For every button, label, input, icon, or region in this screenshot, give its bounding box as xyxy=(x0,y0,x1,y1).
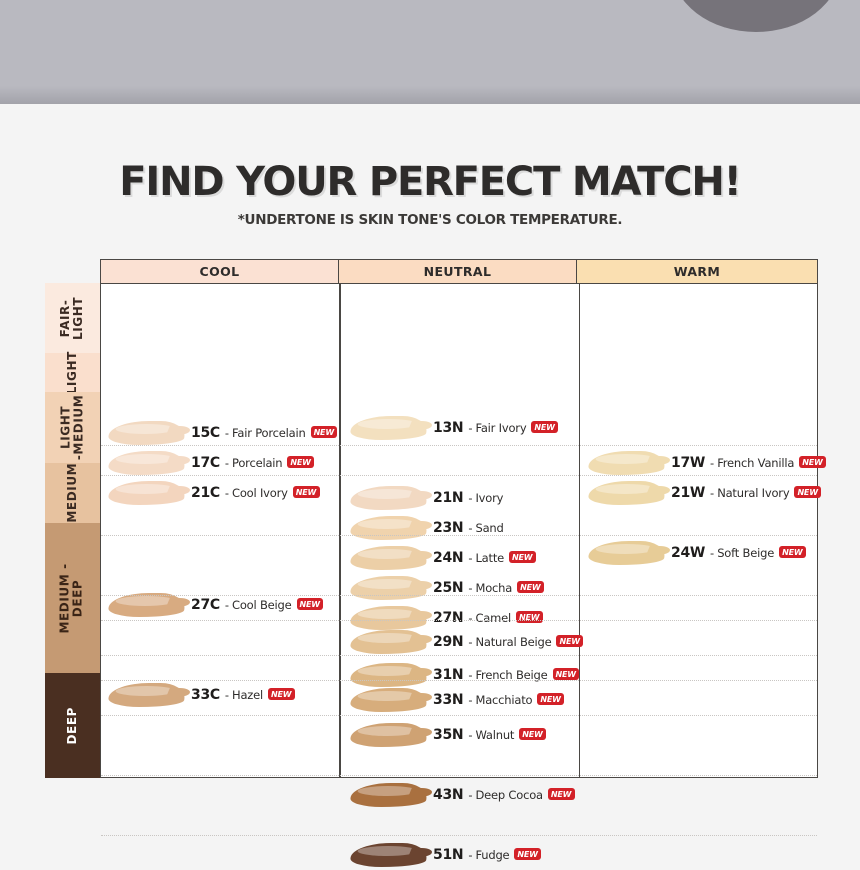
shade-finder-page: FIND YOUR PERFECT MATCH! *UNDERTONE IS S… xyxy=(0,104,860,812)
shade-separator: - xyxy=(225,426,229,440)
shade-separator: - xyxy=(468,788,472,802)
shade-entry[interactable]: 21W-Natural IvoryNEW xyxy=(589,478,821,508)
tone-band-label: MEDIUM xyxy=(66,463,79,523)
tone-band-label: LIGHT-MEDIUM xyxy=(59,395,86,460)
shade-name: Cool Beige xyxy=(232,598,292,612)
shade-name: Mocha xyxy=(475,581,512,595)
new-badge: NEW xyxy=(779,546,806,558)
shade-name: Deep Cocoa xyxy=(475,788,542,802)
shade-swatch-icon xyxy=(351,543,427,573)
shade-swatch-icon xyxy=(351,513,427,543)
shade-entry[interactable]: 17W-French VanillaNEW xyxy=(589,448,826,478)
shade-entry[interactable]: 29N-Natural BeigeNEW xyxy=(351,627,583,657)
shade-swatch-icon xyxy=(351,685,427,715)
tone-band-light: LIGHT xyxy=(45,353,100,392)
new-badge: NEW xyxy=(556,635,583,647)
shade-code: 27N xyxy=(433,610,463,626)
shade-entry[interactable]: 15C-Fair PorcelainNEW xyxy=(109,418,337,448)
row-divider xyxy=(101,535,817,536)
shade-entry[interactable]: 13N-Fair IvoryNEW xyxy=(351,413,558,443)
shade-name: Ivory xyxy=(475,491,503,505)
shade-separator: - xyxy=(468,635,472,649)
shade-entry[interactable]: 23N-Sand xyxy=(351,513,504,543)
product-cushion-shadow-shape xyxy=(672,0,840,32)
shade-swatch-icon xyxy=(351,720,427,750)
new-badge: NEW xyxy=(531,421,558,433)
row-divider xyxy=(101,835,817,836)
shade-code: 17W xyxy=(671,455,705,471)
new-badge: NEW xyxy=(268,688,295,700)
shade-separator: - xyxy=(468,421,472,435)
shade-code: 21N xyxy=(433,490,463,506)
shade-separator: - xyxy=(468,551,472,565)
tone-band-medium-deep: MEDIUM -DEEP xyxy=(45,523,100,673)
shade-code: 25N xyxy=(433,580,463,596)
new-badge: NEW xyxy=(514,848,541,860)
shade-code: 51N xyxy=(433,847,463,863)
shade-entry[interactable]: 17C-PorcelainNEW xyxy=(109,448,314,478)
shade-name: Sand xyxy=(475,521,503,535)
shade-name: Fair Porcelain xyxy=(232,426,306,440)
shade-swatch-icon xyxy=(351,483,427,513)
shade-separator: - xyxy=(468,693,472,707)
shade-swatch-icon xyxy=(351,413,427,443)
shade-name: Fudge xyxy=(475,848,509,862)
shade-separator: - xyxy=(225,486,229,500)
shade-code: 21W xyxy=(671,485,705,501)
shade-entry[interactable]: 43N-Deep CocoaNEW xyxy=(351,780,575,810)
tone-band-medium: MEDIUM xyxy=(45,463,100,523)
tone-band-label: DEEP xyxy=(66,707,79,745)
tone-band-light-medium: LIGHT-MEDIUM xyxy=(45,392,100,463)
shade-separator: - xyxy=(468,611,472,625)
shade-swatch-icon xyxy=(109,478,185,508)
shade-name: Hazel xyxy=(232,688,263,702)
shade-separator: - xyxy=(225,688,229,702)
shade-swatch-icon xyxy=(351,780,427,810)
row-divider xyxy=(101,445,817,446)
shade-separator: - xyxy=(710,456,714,470)
new-badge: NEW xyxy=(509,551,536,563)
shade-code: 24N xyxy=(433,550,463,566)
shade-separator: - xyxy=(468,728,472,742)
shade-separator: - xyxy=(468,848,472,862)
new-badge: NEW xyxy=(548,788,575,800)
shade-entry[interactable]: 51N-FudgeNEW xyxy=(351,840,541,870)
shade-name: French Vanilla xyxy=(717,456,794,470)
shade-code: 24W xyxy=(671,545,705,561)
shade-swatch-icon xyxy=(109,680,185,710)
shade-name: Latte xyxy=(475,551,504,565)
shade-code: 21C xyxy=(191,485,220,501)
shade-code: 29N xyxy=(433,634,463,650)
row-divider xyxy=(101,475,817,476)
new-badge: NEW xyxy=(297,598,324,610)
row-divider xyxy=(101,620,817,621)
shade-name: Natural Ivory xyxy=(717,486,789,500)
shade-name: Cool Ivory xyxy=(232,486,288,500)
new-badge: NEW xyxy=(311,426,338,438)
shade-code: 15C xyxy=(191,425,220,441)
shade-code: 13N xyxy=(433,420,463,436)
row-divider xyxy=(101,775,817,776)
shade-code: 35N xyxy=(433,727,463,743)
shade-swatch-icon xyxy=(351,840,427,870)
new-badge: NEW xyxy=(519,728,546,740)
row-divider xyxy=(101,655,817,656)
table-column-header-row: COOL NEUTRAL WARM xyxy=(101,260,817,284)
tone-band-label: FAIR-LIGHT xyxy=(59,296,86,339)
shade-code: 33C xyxy=(191,687,220,703)
new-badge: NEW xyxy=(516,611,543,623)
shade-code: 23N xyxy=(433,520,463,536)
row-divider xyxy=(101,715,817,716)
shade-entry[interactable]: 21N-Ivory xyxy=(351,483,503,513)
shade-separator: - xyxy=(710,546,714,560)
shade-name: Porcelain xyxy=(232,456,282,470)
new-badge: NEW xyxy=(517,581,544,593)
new-badge: NEW xyxy=(553,668,580,680)
shade-entry[interactable]: 24W-Soft BeigeNEW xyxy=(589,538,806,568)
column-header-warm: WARM xyxy=(577,260,817,283)
shade-name: Fair Ivory xyxy=(475,421,526,435)
tone-band-sidebar: FAIR-LIGHTLIGHTLIGHT-MEDIUMMEDIUMMEDIUM … xyxy=(45,283,100,778)
page-title: FIND YOUR PERFECT MATCH! xyxy=(0,159,860,205)
shade-match-table: COOL NEUTRAL WARM 15C-Fair PorcelainNEW1… xyxy=(100,259,818,778)
shade-separator: - xyxy=(710,486,714,500)
new-badge: NEW xyxy=(293,486,320,498)
shade-swatch-icon xyxy=(351,627,427,657)
shade-separator: - xyxy=(468,521,472,535)
column-divider-neutral-warm xyxy=(579,284,581,777)
tone-band-label: LIGHT xyxy=(66,351,79,394)
shade-code: 17C xyxy=(191,455,220,471)
column-header-cool: COOL xyxy=(101,260,339,283)
shade-swatch-icon xyxy=(589,538,665,568)
shade-separator: - xyxy=(225,456,229,470)
shade-name: Soft Beige xyxy=(717,546,774,560)
shade-separator: - xyxy=(468,581,472,595)
banner-gradient-shadow xyxy=(0,86,860,104)
column-header-neutral: NEUTRAL xyxy=(339,260,577,283)
new-badge: NEW xyxy=(799,456,826,468)
shade-name: Camel xyxy=(475,611,511,625)
shade-swatch-icon xyxy=(109,448,185,478)
tone-band-deep: DEEP xyxy=(45,673,100,778)
shade-entry[interactable]: 24N-LatteNEW xyxy=(351,543,536,573)
new-badge: NEW xyxy=(794,486,821,498)
shade-name: Walnut xyxy=(475,728,514,742)
new-badge: NEW xyxy=(537,693,564,705)
column-divider-cool-neutral xyxy=(339,284,341,777)
page-subtitle: *UNDERTONE IS SKIN TONE'S COLOR TEMPERAT… xyxy=(0,212,860,228)
product-hero-banner xyxy=(0,0,860,104)
row-divider xyxy=(101,595,817,596)
new-badge: NEW xyxy=(287,456,314,468)
shade-entry[interactable]: 33C-HazelNEW xyxy=(109,680,295,710)
tone-band-label: MEDIUM -DEEP xyxy=(59,563,86,633)
shade-name: Natural Beige xyxy=(475,635,551,649)
shade-swatch-icon xyxy=(351,573,427,603)
shade-entry[interactable]: 21C-Cool IvoryNEW xyxy=(109,478,320,508)
shade-swatch-icon xyxy=(589,478,665,508)
shade-swatch-icon xyxy=(109,418,185,448)
shade-separator: - xyxy=(468,491,472,505)
shade-separator: - xyxy=(225,598,229,612)
shade-code: 27C xyxy=(191,597,220,613)
shade-swatch-icon xyxy=(589,448,665,478)
shade-code: 43N xyxy=(433,787,463,803)
shade-code: 33N xyxy=(433,692,463,708)
tone-band-fair-light: FAIR-LIGHT xyxy=(45,283,100,353)
shade-entry[interactable]: 33N-MacchiatoNEW xyxy=(351,685,564,715)
shade-entry[interactable]: 25N-MochaNEW xyxy=(351,573,544,603)
row-divider xyxy=(101,680,817,681)
shade-name: Macchiato xyxy=(475,693,532,707)
shade-entry[interactable]: 35N-WalnutNEW xyxy=(351,720,546,750)
